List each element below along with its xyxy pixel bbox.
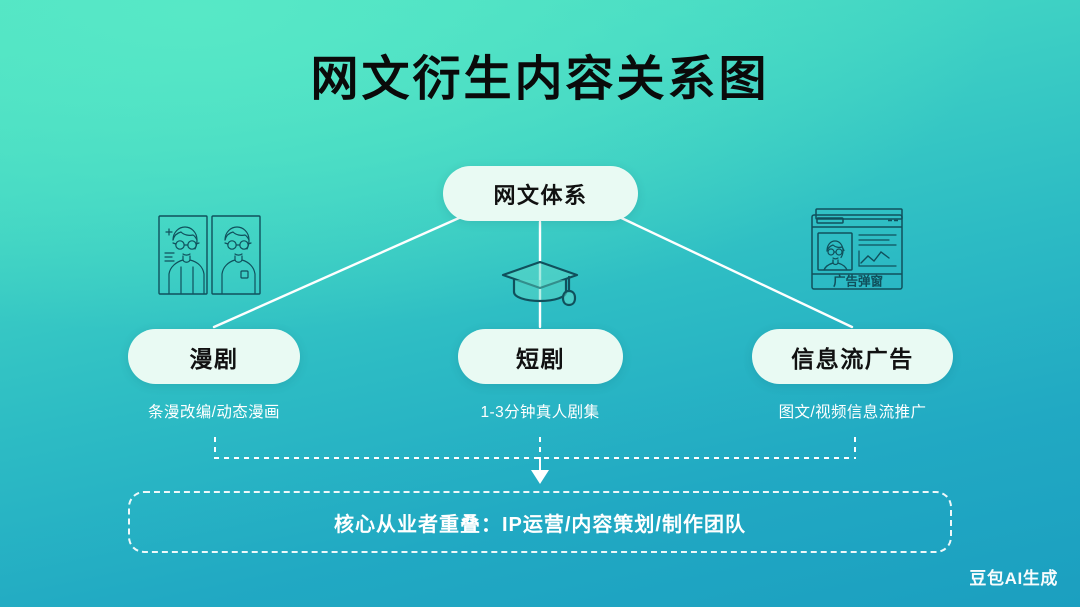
node-manju-label: 漫剧 (190, 340, 239, 374)
node-root-label: 网文体系 (493, 178, 587, 210)
caption-xinxiliu-ad: 图文/视频信息流推广 (745, 400, 960, 422)
caption-duanju: 1-3分钟真人剧集 (440, 400, 640, 422)
arrow-head-down (531, 470, 549, 484)
caption-manju: 条漫改编/动态漫画 (114, 400, 314, 422)
node-root[interactable]: 网文体系 (443, 166, 638, 221)
node-duanju[interactable]: 短剧 (458, 329, 623, 384)
page-title: 网文衍生内容关系图 (0, 52, 1080, 107)
ad-illustration-label-text: 广告弹窗 (833, 274, 883, 289)
ad-popup-window-icon: 广告弹窗 (808, 206, 908, 298)
summary-bar[interactable]: 核心从业者重叠：IP运营/内容策划/制作团队 (128, 491, 952, 553)
infographic-canvas: 网文衍生内容关系图 (0, 0, 1080, 607)
node-manju[interactable]: 漫剧 (128, 329, 300, 384)
comic-panels-icon (157, 213, 263, 297)
node-xinxiliu-ad-label: 信息流广告 (791, 340, 914, 374)
watermark: 豆包AI生成 (969, 564, 1058, 589)
node-xinxiliu-ad[interactable]: 信息流广告 (752, 329, 953, 384)
summary-bar-label: 核心从业者重叠：IP运营/内容策划/制作团队 (334, 508, 746, 537)
node-duanju-label: 短剧 (516, 340, 565, 374)
graduation-cap-icon (497, 256, 583, 318)
